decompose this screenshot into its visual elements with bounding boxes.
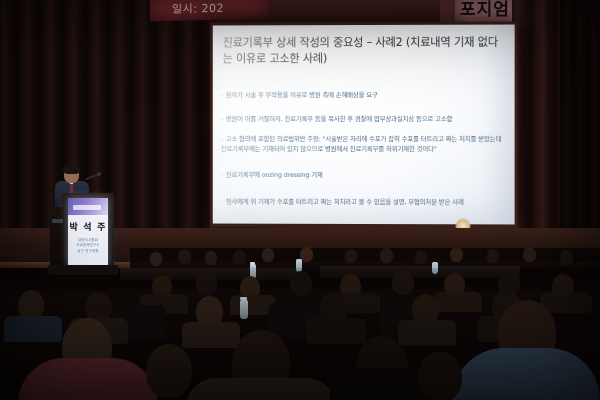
bullet-marker: -	[221, 198, 223, 206]
audience-head	[290, 271, 312, 296]
event-banner-right-text: 포지엄	[460, 0, 510, 20]
speaker-affiliation-label: 대한의사협회 의료정책연구소 상근 연구위원	[68, 238, 108, 254]
audience-head	[178, 249, 191, 264]
audience-shoulders	[398, 320, 456, 346]
audience-head	[450, 247, 463, 262]
podium-display-header	[68, 198, 108, 215]
speaker-name-label: 박 석 주	[68, 220, 108, 233]
bullet-text: 환자가 시술 후 부작용을 이유로 병원 측에 손해배상을 요구	[226, 91, 378, 99]
water-bottle	[240, 300, 248, 319]
bullet-text: 진료기록부에 oozing dressing 기재	[226, 171, 323, 179]
bullet-text: 고소 혐의에 포함된 의료법위반 주장: "시술받은 자리에 수포가 잡혀 수포…	[221, 135, 502, 153]
audience-shoulders	[306, 318, 366, 344]
podium-logo	[52, 219, 63, 223]
audience-shoulders-foreground	[186, 378, 336, 400]
conference-photo: 일시: 202 포지엄 진료기록부 상세 작성의 중요성 – 사례2 (치료내역…	[0, 0, 600, 400]
slide-bullet: -형사에게 위 기재가 수포를 터트리고 짜는 처치라고 볼 수 있음을 설명,…	[221, 188, 509, 208]
water-bottle	[432, 262, 438, 274]
audience-shoulders	[4, 316, 62, 342]
bullet-text: 형사에게 위 기재가 수포를 터트리고 짜는 처치라고 볼 수 있음을 설명, …	[226, 198, 464, 207]
projection-screen: 진료기록부 상세 작성의 중요성 – 사례2 (치료내역 기재 없다는 이유로 …	[213, 25, 515, 225]
audience-shoulders	[434, 292, 482, 312]
podium-display-header-bar	[73, 205, 101, 210]
slide-body: -환자가 시술 후 부작용을 이유로 병원 측에 손해배상을 요구 -병원이 이…	[221, 81, 509, 225]
slide-bullet: -병원이 이를 거절하자, 진료기록부 등을 복사한 후 경찰에 업무상과실치상…	[221, 105, 509, 124]
slide-title: 진료기록부 상세 작성의 중요성 – 사례2 (치료내역 기재 없다는 이유로 …	[223, 35, 503, 68]
audience-head	[392, 270, 414, 295]
podium-side-panel	[50, 207, 64, 265]
event-banner-left: 일시: 202	[150, 0, 268, 21]
microphone-head	[97, 172, 101, 176]
slide-bullet: -환자가 시술 후 부작용을 이유로 병원 측에 손해배상을 요구	[221, 81, 509, 101]
water-bottle-cap	[250, 262, 255, 265]
audience-head	[523, 247, 536, 262]
audience-head	[380, 248, 393, 263]
podium-base	[48, 265, 118, 275]
audience-head-foreground	[146, 344, 192, 398]
bullet-marker: -	[221, 115, 223, 123]
water-bottle-cap	[240, 297, 247, 300]
audience-head	[415, 250, 427, 264]
audience-head	[487, 249, 499, 263]
audience-head-foreground	[418, 352, 462, 400]
projection-screen-frame: 진료기록부 상세 작성의 중요성 – 사례2 (치료내역 기재 없다는 이유로 …	[210, 22, 518, 229]
podium-name-display: 박 석 주 대한의사협회 의료정책연구소 상근 연구위원	[68, 198, 108, 266]
slide-bullet: -진료기록부에 oozing dressing 기재	[221, 161, 509, 181]
audience-head	[233, 250, 246, 265]
slide-bullet: -고소 혐의에 포함된 의료법위반 주장: "시술받은 자리에 수포가 잡혀 수…	[221, 125, 509, 154]
audience-head	[150, 252, 162, 266]
bullet-marker: -	[221, 91, 223, 99]
audience-head	[345, 249, 357, 263]
speaker-hair	[63, 164, 80, 174]
podium: 박 석 주 대한의사협회 의료정책연구소 상근 연구위원	[62, 193, 114, 273]
audience-shoulders	[182, 322, 240, 348]
bullet-marker: -	[221, 135, 223, 143]
audience-head	[560, 250, 573, 265]
bullet-text: 병원이 이를 거절하자, 진료기록부 등을 복사한 후 경찰에 업무상과실치상 …	[226, 115, 453, 123]
audience-head	[262, 248, 274, 262]
event-banner-left-text: 일시: 202	[172, 0, 224, 17]
bullet-marker: -	[221, 171, 223, 179]
audience-head	[205, 251, 217, 265]
audience-head	[196, 272, 217, 296]
